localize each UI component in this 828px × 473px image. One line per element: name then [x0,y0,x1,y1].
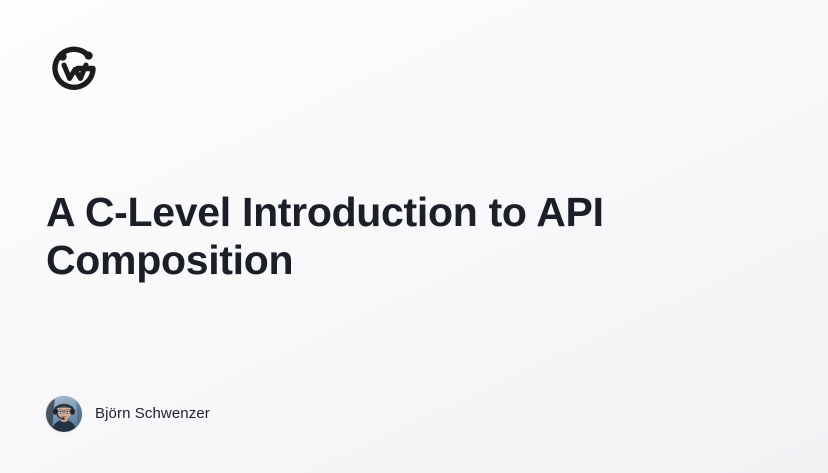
author-byline[interactable]: Björn Schwenzer [46,396,210,432]
author-avatar-photo-icon [46,396,82,432]
article-title-card: A C-Level Introduction to API Compositio… [0,0,828,473]
page-title: A C-Level Introduction to API Compositio… [46,188,666,284]
brand-logo[interactable] [47,41,103,97]
title-block: A C-Level Introduction to API Compositio… [46,188,666,284]
author-name: Björn Schwenzer [95,404,210,424]
avatar[interactable] [46,396,82,432]
w-in-circle-logo-icon [47,41,103,97]
